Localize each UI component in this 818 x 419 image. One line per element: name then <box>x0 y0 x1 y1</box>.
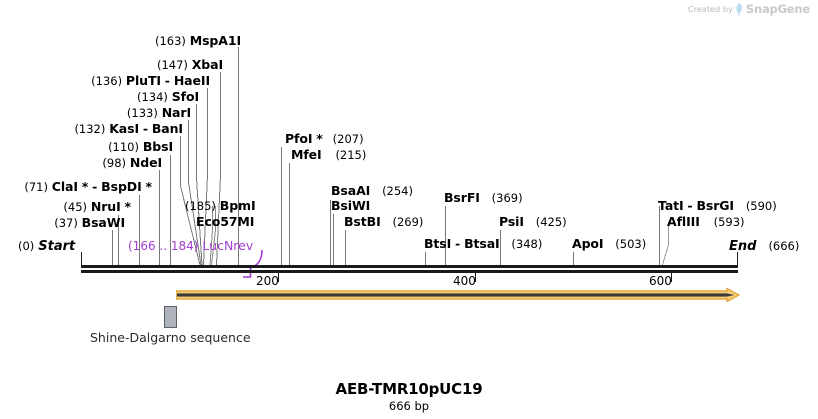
site-label-bstbi[interactable]: BstBI (269) <box>344 216 423 228</box>
site-pos-nari: (133) <box>127 106 158 120</box>
watermark-brand-text: SnapGene <box>746 2 810 16</box>
site-label-pluti-haeii[interactable]: (136) PluTI - HaeII <box>0 75 210 87</box>
site-label-pfoi[interactable]: PfoI * (207) <box>285 133 364 145</box>
site-name-bsiwi: BsiWI <box>331 198 370 213</box>
site-name-eco57mi: Eco57MI <box>196 214 254 229</box>
site-pos-bbsi: (110) <box>108 140 139 154</box>
site-pos-psii: (425) <box>536 215 567 229</box>
site-pos-bpmi: (185) <box>185 199 216 213</box>
site-pos-mspa1i: (163) <box>155 34 186 48</box>
site-label-apoi[interactable]: ApoI (503) <box>572 238 646 250</box>
site-label-bsawi[interactable]: (37) BsaWI <box>0 217 125 229</box>
start-label: Start <box>38 239 75 254</box>
site-pos-sfoi: (134) <box>137 90 168 104</box>
site-star-pfoi: * <box>316 131 323 146</box>
site-label-bpmi[interactable]: (185) BpmI <box>185 200 256 212</box>
site-label-btsi-btsai[interactable]: BtsI - BtsaI (348) <box>424 238 542 250</box>
site-name-psii: PsiI <box>499 214 524 229</box>
site-label-tati-bsrgi[interactable]: TatI - BsrGI (590) <box>658 200 777 212</box>
orf-feature-arrow[interactable] <box>176 288 740 302</box>
site-name-bstbi: BstBI <box>344 214 381 229</box>
snapgene-leaf-icon <box>736 3 743 16</box>
site-star-clai: * <box>82 179 89 194</box>
primer-range-lucnrev: (166 .. 184) <box>128 239 198 253</box>
primer-name-lucnrev: LucNrev <box>202 238 253 253</box>
site-name-afliii: AflIII <box>667 214 700 229</box>
site-name-mfei: MfeI <box>291 147 322 162</box>
site-name-pfoi: PfoI <box>285 131 312 146</box>
site-name-nari: NarI <box>162 105 191 120</box>
site-label-afliii[interactable]: AflIII (593) <box>667 216 745 228</box>
site-name-nrui: NruI <box>91 199 121 214</box>
sequence-backbone-bottom-line <box>81 270 738 273</box>
site-separator-dash: - <box>165 73 170 88</box>
site-star-bspdi: * <box>145 179 152 194</box>
site-label-clai-bspdi[interactable]: (71) ClaI * - BspDI * <box>0 181 152 193</box>
primer-label-lucnrev[interactable]: (166 .. 184) LucNrev <box>128 238 253 253</box>
terminus-start[interactable]: (0) Start <box>18 238 75 254</box>
site-separator-dash: - <box>92 179 97 194</box>
site-name-pluti: PluTI <box>126 73 161 88</box>
site-name-btsi: BtsI <box>424 236 451 251</box>
site-pos-mfei: (215) <box>335 148 366 162</box>
site-label-ndei[interactable]: (98) NdeI <box>0 157 162 169</box>
site-label-mspa1i[interactable]: (163) MspA1I <box>0 35 241 47</box>
watermark-created-by-text: Created by <box>688 5 733 14</box>
shine-dalgarno-feature-box[interactable] <box>164 306 177 328</box>
terminus-end[interactable]: End (666) <box>729 238 799 254</box>
site-pos-btsi: (348) <box>511 237 542 251</box>
site-name-haeii: HaeII <box>174 73 210 88</box>
site-label-mfei[interactable]: MfeI (215) <box>291 149 366 161</box>
ruler-label-400: 400 <box>453 274 475 288</box>
ruler-label-200: 200 <box>256 274 278 288</box>
map-title: AEB-TMR10pUC19 <box>0 380 818 398</box>
site-name-kasi: KasI <box>109 121 139 136</box>
site-name-bsaai: BsaAI <box>331 183 370 198</box>
site-pos-pfoi: (207) <box>333 132 364 146</box>
site-name-btsai: BtsaI <box>464 236 500 251</box>
site-name-bbsi: BbsI <box>143 139 173 154</box>
site-pos-pluti: (136) <box>91 74 122 88</box>
site-pos-clai: (71) <box>24 180 48 194</box>
site-label-bbsi[interactable]: (110) BbsI <box>0 141 173 153</box>
site-label-nari[interactable]: (133) NarI <box>0 107 191 119</box>
sequence-backbone-top-line <box>81 265 738 268</box>
end-label: End <box>729 239 756 254</box>
site-star-nrui: * <box>124 199 131 214</box>
site-label-sfoi[interactable]: (134) SfoI <box>0 91 199 103</box>
site-label-eco57mi[interactable]: Eco57MI <box>196 216 254 228</box>
site-label-xbai[interactable]: (147) XbaI <box>0 59 223 71</box>
site-label-bsiwi[interactable]: BsiWI <box>331 200 370 212</box>
site-name-bani: BanI <box>152 121 183 136</box>
snapgene-linear-map-canvas: Created by SnapGene <box>0 0 818 419</box>
site-pos-kasi: (132) <box>74 122 105 136</box>
site-name-ndei: NdeI <box>130 155 162 170</box>
end-pos: (666) <box>768 239 799 253</box>
site-separator-dash: - <box>687 198 692 213</box>
site-name-bspdi: BspDI <box>101 179 141 194</box>
ruler-label-600: 600 <box>649 274 671 288</box>
map-length-label: 666 bp <box>0 399 818 413</box>
site-label-psii[interactable]: PsiI (425) <box>499 216 567 228</box>
snapgene-watermark: Created by SnapGene <box>688 2 810 16</box>
site-label-kasi-bani[interactable]: (132) KasI - BanI <box>0 123 183 135</box>
site-name-apoi: ApoI <box>572 236 603 251</box>
site-pos-afliii: (593) <box>714 215 745 229</box>
site-separator-dash: - <box>143 121 148 136</box>
site-name-bpmi: BpmI <box>220 198 256 213</box>
site-pos-bsawi: (37) <box>54 216 78 230</box>
shine-dalgarno-label: Shine-Dalgarno sequence <box>90 330 251 345</box>
site-label-bsaai[interactable]: BsaAI (254) <box>331 185 413 197</box>
site-pos-xbai: (147) <box>157 58 188 72</box>
site-pos-nrui: (45) <box>63 200 87 214</box>
site-name-mspa1i: MspA1I <box>190 33 241 48</box>
site-name-sfoi: SfoI <box>172 89 199 104</box>
site-name-xbai: XbaI <box>192 57 223 72</box>
site-pos-bstbi: (269) <box>392 215 423 229</box>
start-pos: (0) <box>18 239 34 253</box>
site-separator-dash: - <box>455 236 460 251</box>
site-pos-ndei: (98) <box>102 156 126 170</box>
site-pos-tati: (590) <box>746 199 777 213</box>
site-name-bsrgi: BsrGI <box>696 198 734 213</box>
site-label-bsrfi[interactable]: BsrFI (369) <box>444 192 523 204</box>
site-pos-bsrfi: (369) <box>492 191 523 205</box>
site-name-bsrfi: BsrFI <box>444 190 480 205</box>
site-label-nrui[interactable]: (45) NruI * <box>0 201 131 213</box>
site-name-bsawi: BsaWI <box>82 215 125 230</box>
site-name-tati: TatI <box>658 198 684 213</box>
site-pos-apoi: (503) <box>615 237 646 251</box>
site-name-clai: ClaI <box>52 179 78 194</box>
site-pos-bsaai: (254) <box>382 184 413 198</box>
